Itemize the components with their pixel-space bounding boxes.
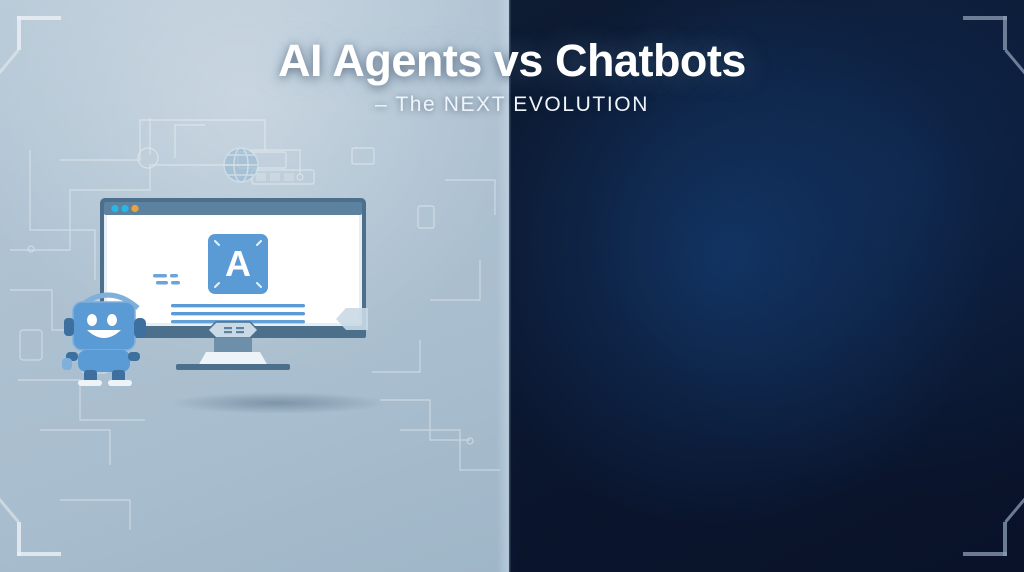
corner-bracket-bottom-right	[961, 516, 1007, 556]
poster-canvas: A	[0, 0, 1024, 572]
robot-eye-left	[87, 314, 97, 326]
page-subtitle: – The NEXT EVOLUTION	[0, 93, 1024, 117]
corner-bracket-bottom-left	[17, 516, 63, 556]
monitor-floor-shadow	[168, 392, 388, 414]
titlebar-dot-3	[131, 205, 138, 212]
titlebar-dot-1	[111, 205, 118, 212]
svg-text:A: A	[225, 243, 251, 284]
robot-eye-right	[107, 314, 117, 326]
titlebar-dot-2	[121, 205, 128, 212]
globe-icon	[215, 140, 267, 190]
page-title: AI Agents vs Chatbots	[0, 36, 1024, 86]
title-block: AI Agents vs Chatbots – The NEXT EVOLUTI…	[0, 36, 1024, 117]
chatbot-robot	[60, 272, 156, 388]
